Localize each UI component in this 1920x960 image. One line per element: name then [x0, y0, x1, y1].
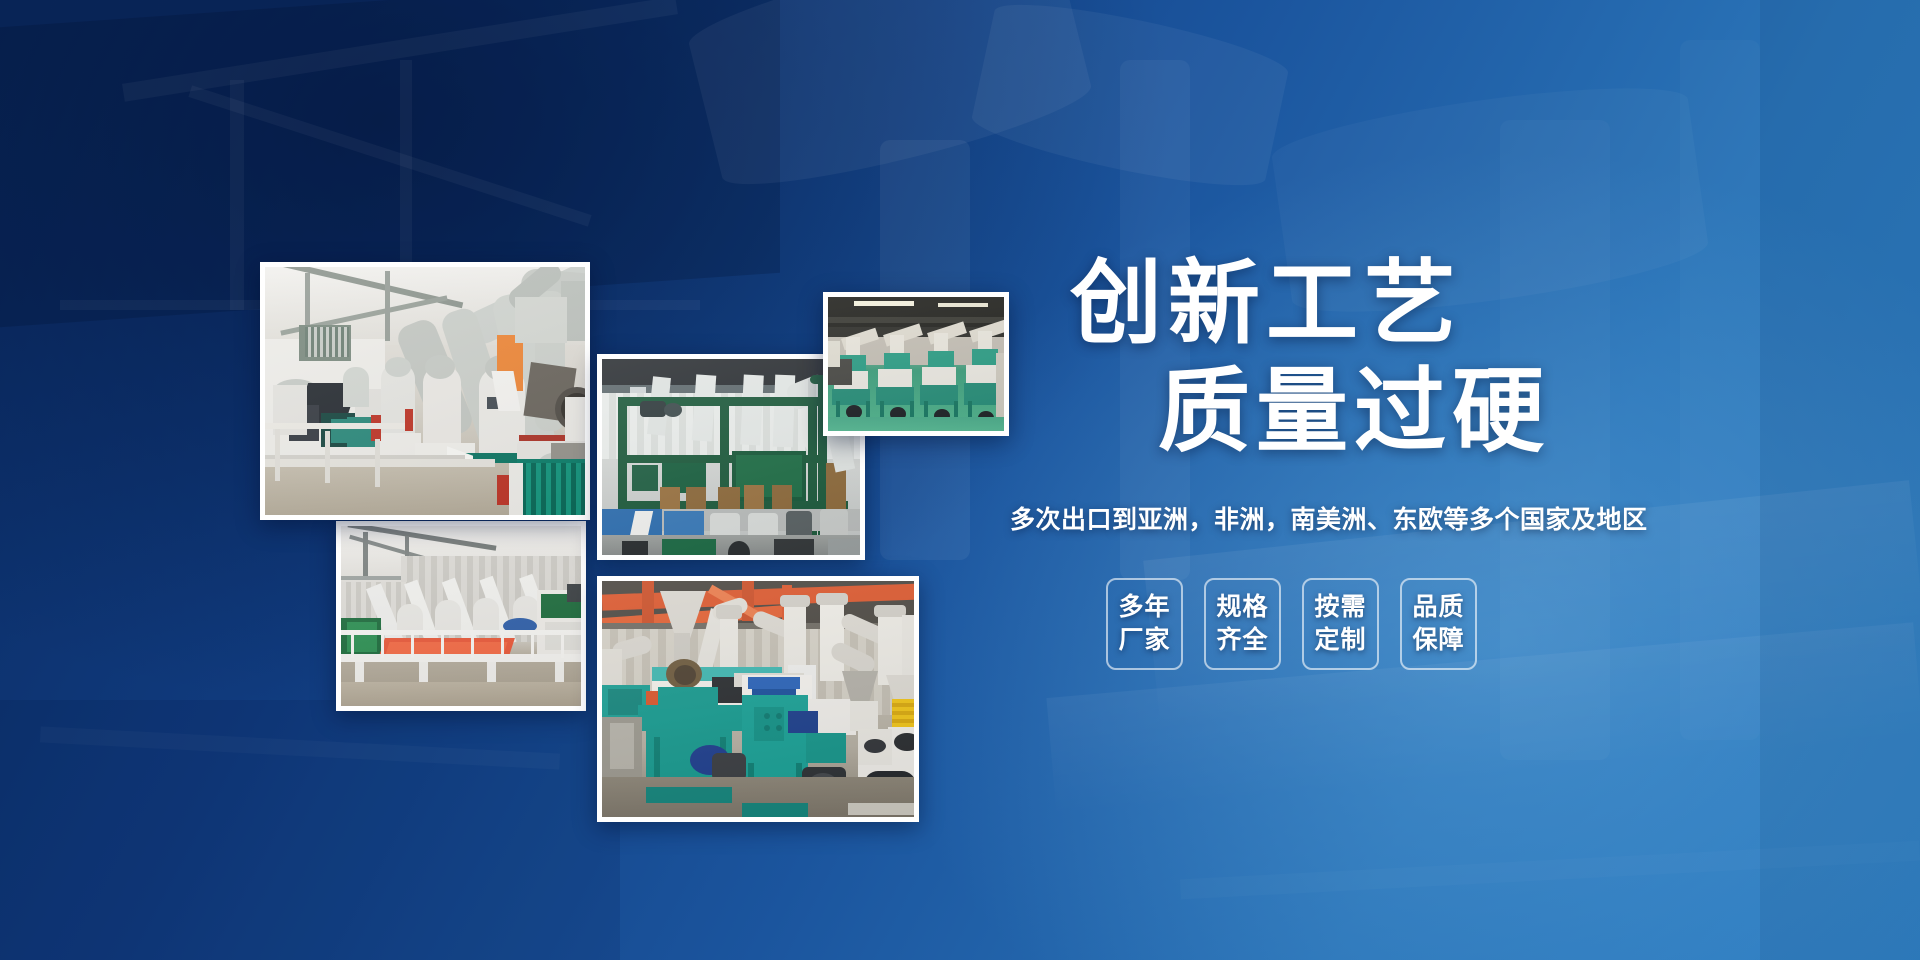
feature-badge-quality-bottom: 保障	[1412, 624, 1464, 657]
feature-badge-custom-top: 按需	[1314, 591, 1366, 624]
feature-badge-custom[interactable]: 按需 定制	[1302, 578, 1379, 670]
feature-badge-years-bottom: 厂家	[1118, 624, 1170, 657]
feature-badge-specs-bottom: 齐全	[1216, 624, 1268, 657]
copy-block: 创新工艺 质量过硬 多次出口到亚洲，非洲，南美洲、东欧等多个国家及地区 多年 厂…	[1008, 250, 1648, 670]
feature-badge-custom-bottom: 定制	[1314, 624, 1366, 657]
headline-line-1: 创新工艺	[1070, 250, 1648, 358]
photo-teal-mill-orange-beams	[597, 576, 919, 822]
feature-badge-list: 多年 厂家 规格 齐全 按需 定制 品质 保障	[1106, 578, 1648, 670]
headline-line-2: 质量过硬	[1158, 358, 1648, 466]
feature-badge-specs[interactable]: 规格 齐全	[1204, 578, 1281, 670]
feature-badge-quality[interactable]: 品质 保障	[1400, 578, 1477, 670]
promo-banner: 创新工艺 质量过硬 多次出口到亚洲，非洲，南美洲、东欧等多个国家及地区 多年 厂…	[0, 0, 1920, 960]
feature-badge-years[interactable]: 多年 厂家	[1106, 578, 1183, 670]
feature-badge-quality-top: 品质	[1412, 591, 1464, 624]
subtitle: 多次出口到亚洲，非洲，南美洲、东欧等多个国家及地区	[1010, 500, 1648, 536]
photo-grain-milling-line	[260, 262, 590, 520]
feature-badge-years-top: 多年	[1118, 591, 1170, 624]
feature-badge-specs-top: 规格	[1216, 591, 1268, 624]
photo-large-plant-orange-conveyor	[336, 521, 586, 711]
photo-teal-machines-green-floor	[823, 292, 1009, 436]
